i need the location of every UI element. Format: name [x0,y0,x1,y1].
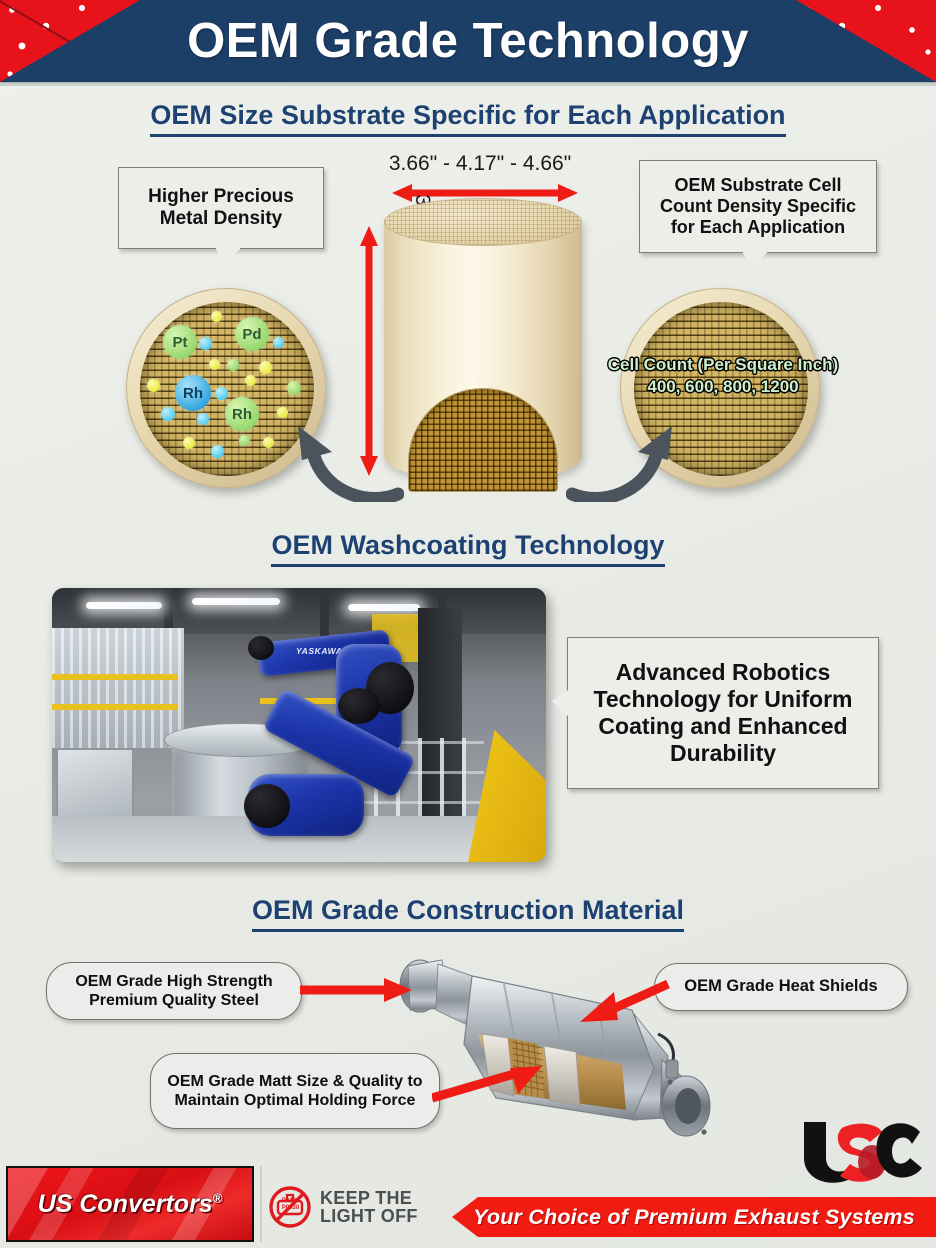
callout-cell-count-density: OEM Substrate Cell Count Density Specifi… [639,160,877,253]
cell-count-overlay-line2: 400, 600, 800, 1200 [578,376,868,398]
particle-dot [183,437,195,449]
arrow-to-steel-icon [300,978,412,1002]
cylinder-honeycomb-top [384,198,582,246]
photo-shelf-rack [52,628,184,748]
section-heading-washcoating: OEM Washcoating Technology [0,530,936,567]
section-heading-substrate: OEM Size Substrate Specific for Each App… [0,100,936,137]
particle-dot [161,407,175,421]
section-heading-washcoating-label: OEM Washcoating Technology [271,530,664,567]
precious-metal-dot-pt: Pt [163,325,197,359]
precious-metal-dot-rh-green: Rh [225,397,259,431]
section-heading-construction-label: OEM Grade Construction Material [252,895,684,932]
footer-tagline: Your Choice of Premium Exhaust Systems [452,1197,936,1237]
photo-ceiling-beam [320,588,329,640]
substrate-cylinder-illustration [384,198,582,498]
page-header: OEM Grade Technology [0,0,936,82]
callout-heat-shields: OEM Grade Heat Shields [654,963,908,1011]
page-title: OEM Grade Technology [0,0,936,82]
no-check-engine-light-icon: P0420 P0430 [268,1185,312,1229]
header-divider [0,82,936,86]
arrow-to-matt-icon [432,1062,542,1104]
keep-light-line2: LIGHT OFF [320,1207,418,1225]
photo-robot-joint [338,688,380,724]
cell-count-overlay-line1: Cell Count (Per Square Inch) [578,354,868,376]
brand-name: US Convertors [38,1190,213,1218]
callout-advanced-robotics: Advanced Robotics Technology for Uniform… [567,637,879,789]
callout-metal-density-label: Higher Precious Metal Density [127,186,315,231]
particle-dot [199,337,212,350]
photo-robot-base-joint [244,784,290,828]
photo-yellow-rail [52,674,178,680]
particle-dot [209,359,220,370]
particle-dot [211,311,222,322]
substrate-diameter-label: 3.66" - 4.17" - 4.66" [372,152,588,176]
particle-dot [197,413,209,425]
photo-robot-cable [248,636,274,660]
callout-advanced-robotics-label: Advanced Robotics Technology for Uniform… [576,659,870,768]
callout-tail [552,690,568,716]
particle-dot [227,359,239,371]
particle-dot [259,361,272,374]
dtc-code-2: P0430 [277,1205,304,1212]
arrow-to-heat-shields-icon [580,978,670,1024]
callout-tail [215,248,241,263]
precious-metal-dot-rh-blue: Rh [175,375,211,411]
washcoating-robot-photo: YASKAWA [52,588,546,862]
callout-heat-shields-label: OEM Grade Heat Shields [684,977,877,997]
photo-ceiling-lamp [86,602,162,609]
dtc-code-1: P0420 [277,1198,304,1205]
callout-metal-density: Higher Precious Metal Density [118,167,324,249]
curved-arrow-to-left-circle-icon [292,398,404,502]
precious-metal-dot-pd: Pd [235,317,269,351]
dtc-codes: P0420 P0430 [277,1198,304,1212]
cell-count-overlay: Cell Count (Per Square Inch) 400, 600, 8… [578,354,868,398]
particle-dot [263,437,274,448]
registered-mark: ® [213,1190,223,1205]
keep-the-light-off-badge: P0420 P0430 KEEP THE LIGHT OFF [268,1180,438,1234]
infographic-page: OEM Grade Technology OEM Size Substrate … [0,0,936,1248]
particle-dot [287,381,301,395]
footer-tagline-label: Your Choice of Premium Exhaust Systems [473,1205,915,1230]
callout-cell-count-density-label: OEM Substrate Cell Count Density Specifi… [648,175,868,239]
particle-dot [211,445,224,458]
particle-dot [239,435,250,446]
footer-divider [260,1166,262,1242]
keep-light-line1: KEEP THE [320,1189,418,1207]
particle-dot [245,375,256,386]
photo-ceiling-lamp [192,598,280,605]
particle-dot [273,337,284,348]
brand-logo-box: US Convertors® [6,1166,254,1242]
callout-premium-steel-label: OEM Grade High Strength Premium Quality … [57,972,291,1010]
photo-yellow-rail [52,704,178,710]
keep-the-light-off-text: KEEP THE LIGHT OFF [320,1189,418,1226]
brand-logo-text: US Convertors® [38,1190,223,1219]
section-heading-substrate-label: OEM Size Substrate Specific for Each App… [150,100,785,137]
curved-arrow-to-right-circle-icon [566,398,678,502]
usc-logo-icon [798,1118,926,1184]
section-heading-construction: OEM Grade Construction Material [0,895,936,932]
callout-matt-quality-label: OEM Grade Matt Size & Quality to Maintai… [161,1072,429,1110]
callout-matt-quality: OEM Grade Matt Size & Quality to Maintai… [150,1053,440,1129]
particle-dot [215,387,228,400]
callout-premium-steel: OEM Grade High Strength Premium Quality … [46,962,302,1020]
particle-dot [277,407,288,418]
photo-ceiling-lamp [348,604,420,611]
photo-robot-brand-label: YASKAWA [296,646,343,656]
callout-tail [742,252,768,267]
particle-dot [147,379,160,392]
